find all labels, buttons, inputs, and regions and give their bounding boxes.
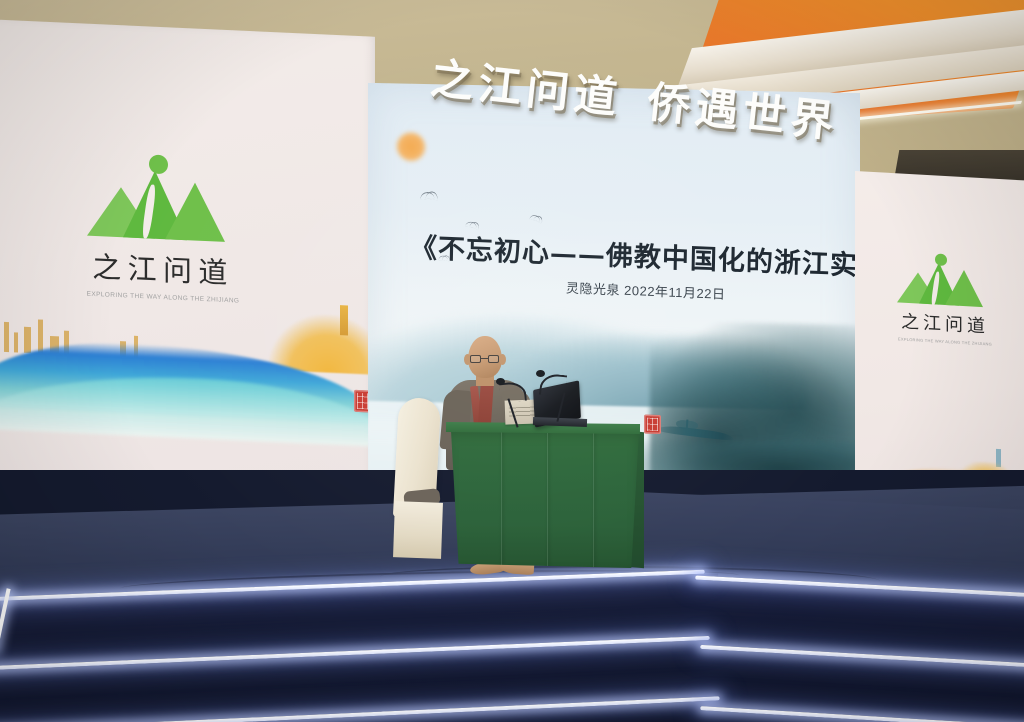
screen-sun-icon xyxy=(396,131,426,162)
drape-fold xyxy=(501,428,502,568)
logo-right-cn-text: 之江问道 xyxy=(885,307,1005,340)
podium-drape xyxy=(447,428,639,568)
screen-subtitle: 灵隐光泉 2022年11月22日 xyxy=(566,277,726,302)
microphone-head xyxy=(496,378,505,385)
logo-mountain-icon xyxy=(83,151,243,244)
skyline-bar xyxy=(14,332,18,352)
logo-sun-dot xyxy=(149,154,168,174)
chair xyxy=(396,398,442,558)
glasses-lens-right xyxy=(488,355,499,363)
bird-icon xyxy=(465,221,477,228)
skyline-bar xyxy=(4,322,9,352)
glasses-lens-left xyxy=(470,355,481,363)
skyline-bar xyxy=(24,327,31,353)
logo-peak-right xyxy=(165,181,225,242)
logo-left: 之江问道 EXPLORING THE WAY ALONG THE ZHIJIAN… xyxy=(68,151,258,306)
left-art-pagoda xyxy=(340,305,348,335)
bird-icon xyxy=(420,191,435,200)
screen-seal-stamp xyxy=(644,415,661,434)
glasses-icon xyxy=(470,355,500,363)
screen-title: 《不忘初心——佛教中国化的浙江实践》 xyxy=(410,226,841,282)
glasses-bridge xyxy=(481,358,488,359)
left-panel-artwork xyxy=(0,298,375,488)
logo-mountain-icon xyxy=(895,251,995,309)
logo-left-cn-text: 之江问道 xyxy=(68,243,258,294)
drape-fold xyxy=(547,428,548,568)
screen-boat-icon xyxy=(656,419,734,439)
microphone-head xyxy=(536,370,545,377)
bird-icon xyxy=(529,214,540,221)
speaker-ear-right xyxy=(499,354,506,365)
logo-peak-right xyxy=(945,269,983,307)
logo-right: 之江问道 EXPLORING THE WAY ALONG THE ZHIJIAN… xyxy=(885,251,1005,348)
stage-photograph: 之江问道侨遇世界 之江问道 EXPLORING THE WAY ALONG TH… xyxy=(0,0,1024,722)
logo-sun-dot xyxy=(935,253,947,266)
drape-fold xyxy=(593,428,594,568)
chair-seat xyxy=(393,501,443,559)
